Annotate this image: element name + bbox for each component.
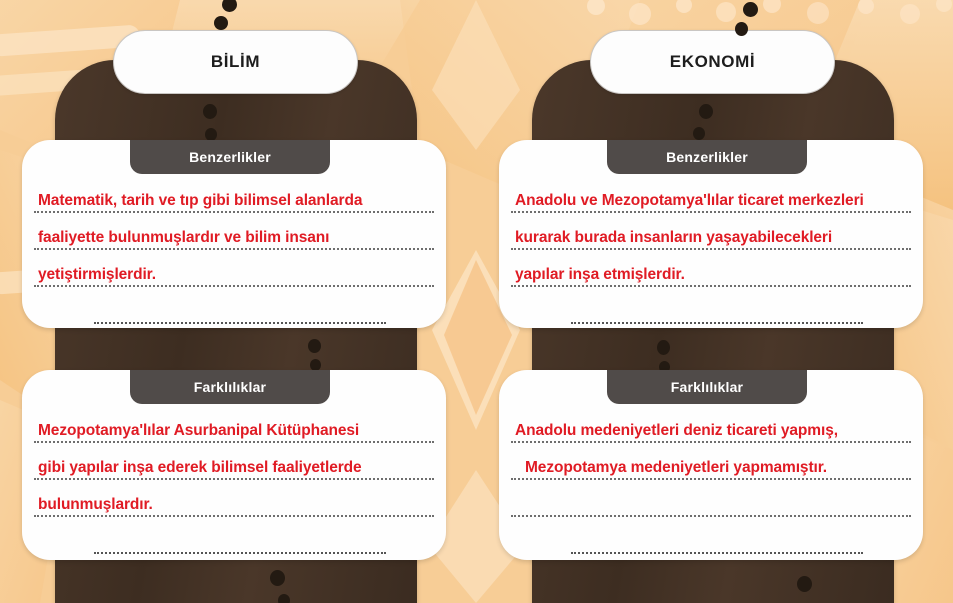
answer-line[interactable]: [511, 293, 911, 330]
answer-text: yapılar inşa etmişlerdir.: [515, 266, 685, 284]
decorative-dot: [203, 104, 217, 119]
answer-text: yetiştirmişlerdir.: [38, 266, 156, 284]
decorative-dot: [743, 2, 758, 17]
panel-bilim-benzerlikler: Benzerlikler Matematik, tarih ve tıp gib…: [22, 140, 446, 328]
answer-line[interactable]: [511, 523, 911, 560]
rule-line: [511, 211, 911, 213]
answer-text: Anadolu ve Mezopotamya'lılar ticaret mer…: [515, 192, 864, 210]
answer-line[interactable]: yapılar inşa etmişlerdir.: [511, 256, 911, 293]
answer-line[interactable]: Mezopotamya'lılar Asurbanipal Kütüphanes…: [34, 412, 434, 449]
answer-lines: Matematik, tarih ve tıp gibi bilimsel al…: [22, 182, 446, 330]
decorative-dot: [222, 0, 237, 12]
answer-line[interactable]: [34, 523, 434, 560]
answer-text: bulunmuşlardır.: [38, 496, 153, 514]
answer-lines: Anadolu ve Mezopotamya'lılar ticaret mer…: [499, 182, 923, 330]
answer-line[interactable]: gibi yapılar inşa ederek bilimsel faaliy…: [34, 449, 434, 486]
rule-line: [511, 515, 911, 517]
answer-text: Mezopotamya'lılar Asurbanipal Kütüphanes…: [38, 422, 359, 440]
tab-benzerlikler[interactable]: Benzerlikler: [130, 140, 330, 174]
rule-line: [34, 478, 434, 480]
answer-text: gibi yapılar inşa ederek bilimsel faaliy…: [38, 459, 362, 477]
rule-line: [511, 441, 911, 443]
rule-line: [34, 211, 434, 213]
column-title-label: BİLİM: [211, 52, 260, 72]
tab-label: Farklılıklar: [194, 379, 266, 395]
rule-line: [511, 285, 911, 287]
answer-text: kurarak burada insanların yaşayabilecekl…: [515, 229, 832, 247]
answer-lines: Anadolu medeniyetleri deniz ticareti yap…: [499, 412, 923, 560]
decorative-dot: [214, 16, 228, 30]
answer-text: Anadolu medeniyetleri deniz ticareti yap…: [515, 422, 838, 440]
column-title-ekonomi: EKONOMİ: [590, 30, 835, 94]
answer-line[interactable]: kurarak burada insanların yaşayabilecekl…: [511, 219, 911, 256]
answer-line[interactable]: [511, 486, 911, 523]
tab-farkliliklar[interactable]: Farklılıklar: [607, 370, 807, 404]
decorative-dot: [735, 22, 748, 36]
answer-text: Mezopotamya medeniyetleri yapmamıştır.: [525, 459, 827, 477]
tab-farkliliklar[interactable]: Farklılıklar: [130, 370, 330, 404]
decorative-dot: [278, 594, 290, 603]
tab-label: Benzerlikler: [189, 149, 271, 165]
column-bilim: BİLİM Benzerlikler Matematik, tarih ve t…: [0, 0, 476, 603]
rule-line: [34, 285, 434, 287]
answer-lines: Mezopotamya'lılar Asurbanipal Kütüphanes…: [22, 412, 446, 560]
rule-line: [511, 478, 911, 480]
decorative-dot: [699, 104, 713, 119]
answer-line[interactable]: [34, 293, 434, 330]
answer-text: faaliyette bulunmuşlardır ve bilim insan…: [38, 229, 329, 247]
rule-line: [94, 552, 386, 554]
rule-line: [511, 248, 911, 250]
rule-line: [34, 441, 434, 443]
tab-label: Benzerlikler: [666, 149, 748, 165]
panel-bilim-farkliliklar: Farklılıklar Mezopotamya'lılar Asurbanip…: [22, 370, 446, 560]
answer-line[interactable]: bulunmuşlardır.: [34, 486, 434, 523]
worksheet-page: BİLİM Benzerlikler Matematik, tarih ve t…: [0, 0, 953, 603]
answer-line[interactable]: Anadolu ve Mezopotamya'lılar ticaret mer…: [511, 182, 911, 219]
column-title-label: EKONOMİ: [670, 52, 755, 72]
tab-benzerlikler[interactable]: Benzerlikler: [607, 140, 807, 174]
rule-line: [94, 322, 386, 324]
answer-line[interactable]: yetiştirmişlerdir.: [34, 256, 434, 293]
column-title-bilim: BİLİM: [113, 30, 358, 94]
rule-line: [571, 322, 863, 324]
decorative-dot: [693, 127, 705, 140]
tab-label: Farklılıklar: [671, 379, 743, 395]
decorative-dot: [657, 340, 670, 355]
answer-line[interactable]: faaliyette bulunmuşlardır ve bilim insan…: [34, 219, 434, 256]
panel-ekonomi-farkliliklar: Farklılıklar Anadolu medeniyetleri deniz…: [499, 370, 923, 560]
answer-line[interactable]: Matematik, tarih ve tıp gibi bilimsel al…: [34, 182, 434, 219]
answer-text: Matematik, tarih ve tıp gibi bilimsel al…: [38, 192, 362, 210]
column-ekonomi: EKONOMİ Benzerlikler Anadolu ve Mezopota…: [477, 0, 953, 603]
answer-line[interactable]: Mezopotamya medeniyetleri yapmamıştır.: [511, 449, 911, 486]
decorative-dot: [270, 570, 285, 586]
decorative-dot: [797, 576, 812, 592]
rule-line: [34, 248, 434, 250]
answer-line[interactable]: Anadolu medeniyetleri deniz ticareti yap…: [511, 412, 911, 449]
decorative-dot: [308, 339, 321, 353]
panel-ekonomi-benzerlikler: Benzerlikler Anadolu ve Mezopotamya'lıla…: [499, 140, 923, 328]
rule-line: [34, 515, 434, 517]
rule-line: [571, 552, 863, 554]
